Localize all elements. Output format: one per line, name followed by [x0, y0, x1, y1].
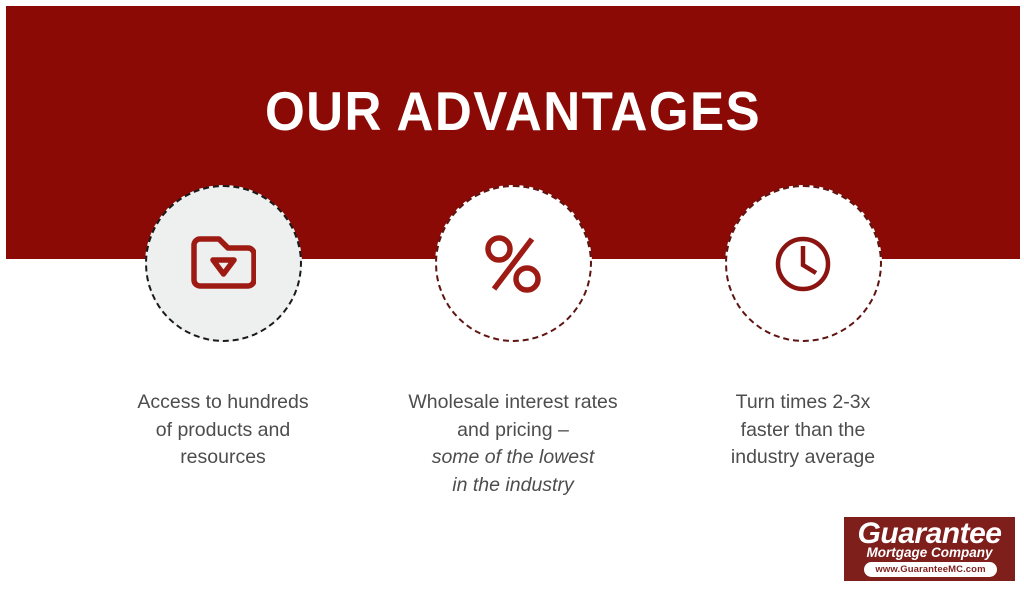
- caption-line: in the industry: [383, 472, 643, 500]
- caption-line: some of the lowest: [383, 444, 643, 472]
- advantage-icon-circle-3: [725, 185, 882, 342]
- folder-download-icon: [190, 235, 256, 293]
- advantage-item-2: Wholesale interest rates and pricing – s…: [368, 185, 658, 500]
- advantage-item-1: Access to hundreds of products and resou…: [78, 185, 368, 472]
- advantage-icon-circle-1: [145, 185, 302, 342]
- company-logo: Guarantee Mortgage Company www.Guarantee…: [843, 516, 1016, 582]
- advantage-caption-2: Wholesale interest rates and pricing – s…: [383, 389, 643, 500]
- advantage-caption-3: Turn times 2-3x faster than the industry…: [673, 389, 933, 472]
- slide-canvas: OUR ADVANTAGES Access to hundreds of pro…: [0, 0, 1024, 610]
- advantage-item-3: Turn times 2-3x faster than the industry…: [658, 185, 948, 472]
- caption-line: and pricing –: [383, 417, 643, 445]
- caption-line: resources: [93, 444, 353, 472]
- clock-icon: [772, 233, 834, 295]
- caption-line: faster than the: [673, 417, 933, 445]
- caption-line: Turn times 2-3x: [673, 389, 933, 417]
- caption-line: Access to hundreds: [93, 389, 353, 417]
- advantage-icon-circle-2: [435, 185, 592, 342]
- caption-line: industry average: [673, 444, 933, 472]
- page-title: OUR ADVANTAGES: [41, 84, 984, 139]
- logo-company-subtitle: Mortgage Company: [844, 546, 1015, 560]
- caption-line: Wholesale interest rates: [383, 389, 643, 417]
- logo-url-text: www.GuaranteeMC.com: [875, 565, 985, 575]
- advantages-row: Access to hundreds of products and resou…: [6, 185, 1020, 500]
- percent-icon: [482, 231, 544, 297]
- advantage-caption-1: Access to hundreds of products and resou…: [93, 389, 353, 472]
- logo-url-pill: www.GuaranteeMC.com: [864, 562, 997, 577]
- caption-line: of products and: [93, 417, 353, 445]
